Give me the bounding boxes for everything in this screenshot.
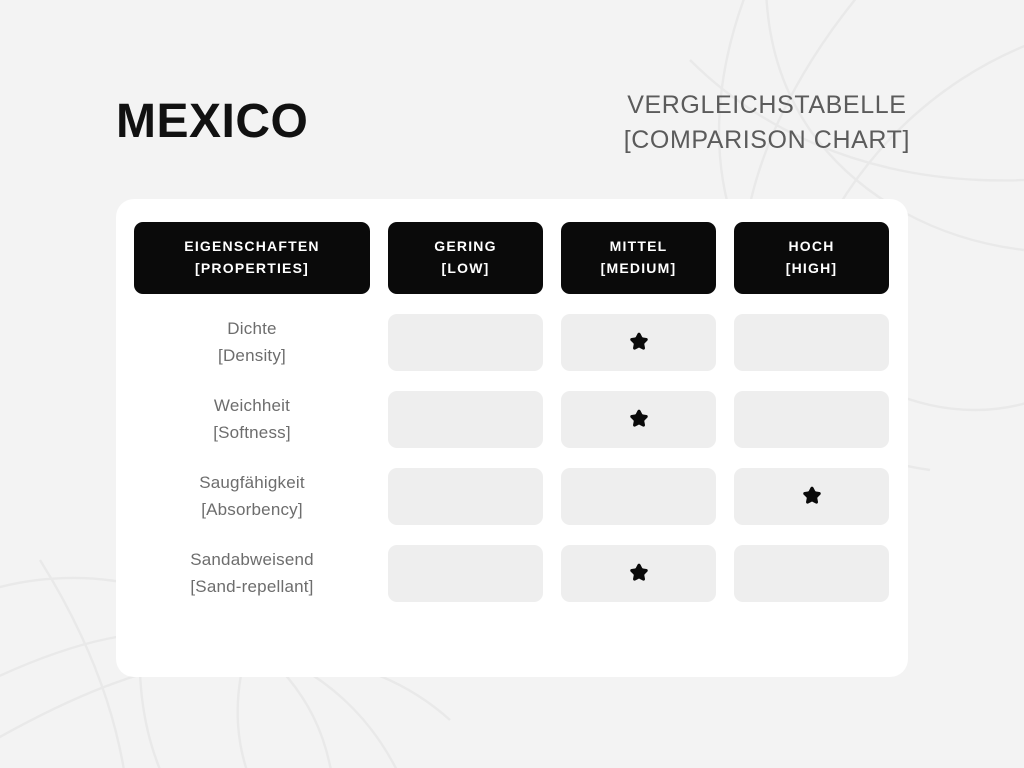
column-header-properties-line1: EIGENSCHAFTEN: [184, 236, 319, 258]
comparison-table: EIGENSCHAFTEN [PROPERTIES] GERING [LOW] …: [134, 222, 888, 602]
table-header-row: EIGENSCHAFTEN [PROPERTIES] GERING [LOW] …: [134, 222, 888, 294]
cell-density-low[interactable]: [388, 314, 543, 371]
subtitle-line-german: VERGLEICHSTABELLE: [624, 88, 910, 123]
cell-density-medium[interactable]: [561, 314, 716, 371]
row-label-absorbency: Saugfähigkeit [Absorbency]: [134, 468, 370, 525]
subtitle-line-english: [COMPARISON CHART]: [624, 123, 910, 158]
row-label-absorbency-line2: [Absorbency]: [201, 497, 303, 523]
cell-sand-repellant-low[interactable]: [388, 545, 543, 602]
row-label-sand-repellant-line1: Sandabweisend: [190, 547, 314, 573]
table-row: Dichte [Density]: [134, 314, 888, 371]
cell-density-high[interactable]: [734, 314, 889, 371]
column-header-high[interactable]: HOCH [HIGH]: [734, 222, 889, 294]
cell-absorbency-low[interactable]: [388, 468, 543, 525]
column-header-medium-line2: [MEDIUM]: [601, 258, 677, 280]
column-header-low[interactable]: GERING [LOW]: [388, 222, 543, 294]
comparison-card: EIGENSCHAFTEN [PROPERTIES] GERING [LOW] …: [116, 199, 908, 677]
star-icon: [800, 485, 824, 509]
row-label-absorbency-line1: Saugfähigkeit: [199, 470, 305, 496]
row-label-sand-repellant-line2: [Sand-repellant]: [190, 574, 313, 600]
column-header-high-line2: [HIGH]: [786, 258, 838, 280]
table-row: Sandabweisend [Sand-repellant]: [134, 545, 888, 602]
column-header-low-line1: GERING: [434, 236, 496, 258]
star-icon: [627, 408, 651, 432]
column-header-low-line2: [LOW]: [442, 258, 490, 280]
subtitle: VERGLEICHSTABELLE [COMPARISON CHART]: [624, 88, 910, 157]
table-row: Saugfähigkeit [Absorbency]: [134, 468, 888, 525]
column-header-high-line1: HOCH: [788, 236, 834, 258]
table-row: Weichheit [Softness]: [134, 391, 888, 448]
cell-absorbency-medium[interactable]: [561, 468, 716, 525]
row-label-softness: Weichheit [Softness]: [134, 391, 370, 448]
row-label-density-line1: Dichte: [227, 316, 276, 342]
column-header-properties[interactable]: EIGENSCHAFTEN [PROPERTIES]: [134, 222, 370, 294]
row-label-sand-repellant: Sandabweisend [Sand-repellant]: [134, 545, 370, 602]
star-icon: [627, 562, 651, 586]
column-header-medium[interactable]: MITTEL [MEDIUM]: [561, 222, 716, 294]
row-label-softness-line1: Weichheit: [214, 393, 290, 419]
column-header-properties-line2: [PROPERTIES]: [195, 258, 309, 280]
row-label-density-line2: [Density]: [218, 343, 286, 369]
row-label-softness-line2: [Softness]: [213, 420, 291, 446]
cell-softness-medium[interactable]: [561, 391, 716, 448]
cell-softness-high[interactable]: [734, 391, 889, 448]
page-title: MEXICO: [116, 96, 308, 149]
cell-absorbency-high[interactable]: [734, 468, 889, 525]
cell-softness-low[interactable]: [388, 391, 543, 448]
star-icon: [627, 331, 651, 355]
row-label-density: Dichte [Density]: [134, 314, 370, 371]
page-header: MEXICO VERGLEICHSTABELLE [COMPARISON CHA…: [0, 0, 1024, 199]
cell-sand-repellant-high[interactable]: [734, 545, 889, 602]
cell-sand-repellant-medium[interactable]: [561, 545, 716, 602]
column-header-medium-line1: MITTEL: [610, 236, 668, 258]
